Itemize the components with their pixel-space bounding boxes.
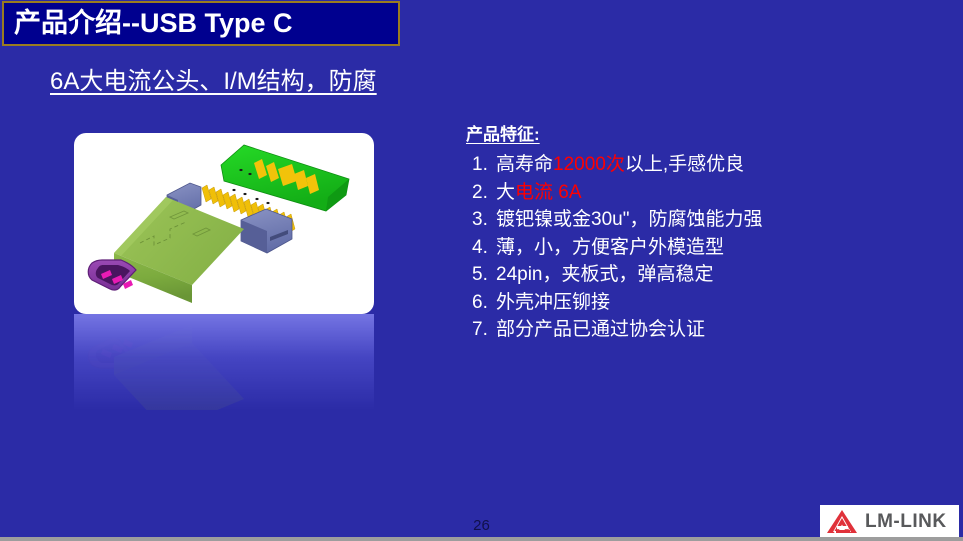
feature-item-text: 部分产品已通过协会认证 xyxy=(496,319,705,340)
product-image-reflection xyxy=(74,314,374,410)
features-heading: 产品特征: xyxy=(466,120,540,145)
feature-item: 1.高寿命12000次以上,手感优良 xyxy=(466,151,936,179)
feature-item-text: 外壳冲压铆接 xyxy=(496,292,610,313)
feature-plain-text: 以上,手感优良 xyxy=(625,154,744,175)
feature-item-number: 3. xyxy=(472,206,488,234)
feature-plain-text: 镀钯镍或金30u"，防腐蚀能力强 xyxy=(496,209,762,230)
feature-item-number: 6. xyxy=(472,289,488,317)
page-title: 产品介绍--USB Type C xyxy=(14,10,293,37)
feature-item-number: 4. xyxy=(472,234,488,262)
feature-item-number: 5. xyxy=(472,261,488,289)
slide-subtitle: 6A大电流公头、I/M结构，防腐 xyxy=(50,61,377,96)
feature-item: 3.镀钯镍或金30u"，防腐蚀能力强 xyxy=(466,206,936,234)
usb-type-c-connector-illustration xyxy=(74,133,374,314)
feature-item-text: 高寿命12000次以上,手感优良 xyxy=(496,154,744,175)
feature-item-text: 大电流 6A xyxy=(496,182,582,203)
feature-item: 7.部分产品已通过协会认证 xyxy=(466,316,936,344)
bottom-divider xyxy=(0,537,963,541)
feature-item-text: 薄，小，方便客户外模造型 xyxy=(496,237,724,258)
feature-plain-text: 24pin，夹板式，弹高稳定 xyxy=(496,264,714,285)
feature-plain-text: 外壳冲压铆接 xyxy=(496,292,610,313)
page-number: 26 xyxy=(0,517,963,534)
feature-plain-text: 大 xyxy=(496,182,515,203)
slide-canvas: 产品介绍--USB Type C 6A大电流公头、I/M结构，防腐 xyxy=(0,0,963,541)
feature-plain-text: 高寿命 xyxy=(496,154,553,175)
features-list: 1.高寿命12000次以上,手感优良2.大电流 6A3.镀钯镍或金30u"，防腐… xyxy=(466,151,936,344)
feature-item: 6.外壳冲压铆接 xyxy=(466,289,936,317)
feature-item: 4.薄，小，方便客户外模造型 xyxy=(466,234,936,262)
feature-item-text: 24pin，夹板式，弹高稳定 xyxy=(496,264,714,285)
reflection-gradient-overlay xyxy=(74,314,374,410)
feature-item: 5.24pin，夹板式，弹高稳定 xyxy=(466,261,936,289)
feature-item-number: 7. xyxy=(472,316,488,344)
company-logo: LM-LINK xyxy=(820,505,959,538)
slide-title-box: 产品介绍--USB Type C xyxy=(2,1,400,46)
logo-text: LM-LINK xyxy=(865,511,947,533)
feature-item-text: 镀钯镍或金30u"，防腐蚀能力强 xyxy=(496,209,762,230)
product-image-card xyxy=(74,133,374,314)
feature-item-number: 2. xyxy=(472,179,488,207)
feature-plain-text: 部分产品已通过协会认证 xyxy=(496,319,705,340)
lm-link-triangle-arrow-icon xyxy=(826,509,858,535)
feature-plain-text: 薄，小，方便客户外模造型 xyxy=(496,237,724,258)
feature-highlight-text: 电流 6A xyxy=(515,182,582,203)
feature-highlight-text: 12000次 xyxy=(553,154,625,175)
feature-item: 2.大电流 6A xyxy=(466,179,936,207)
product-features-panel: 产品特征: 1.高寿命12000次以上,手感优良2.大电流 6A3.镀钯镍或金3… xyxy=(466,120,936,344)
product-image-reflection-copy xyxy=(74,314,374,410)
feature-item-number: 1. xyxy=(472,151,488,179)
